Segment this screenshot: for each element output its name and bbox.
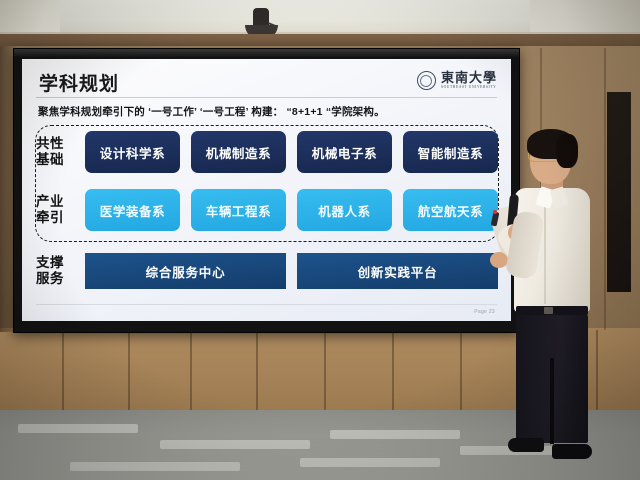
row-common-foundation: 共性 基础 设计科学系 机械制造系 机械电子系 智能制造系 (36, 127, 498, 177)
title-divider (36, 97, 497, 98)
slide-canvas: 学科规划 東南大學 SOUTHEAST UNIVERSITY 聚焦学科规划牵引下… (22, 59, 511, 321)
dept-box-mechanical-mfg[interactable]: 机械制造系 (191, 131, 286, 173)
slide-title: 学科规划 (39, 69, 119, 96)
presenter-far-hand (490, 252, 508, 268)
dept-box-aerospace[interactable]: 航空航天系 (403, 189, 498, 231)
carpet-pattern (300, 458, 440, 467)
dept-box-mechatronics[interactable]: 机械电子系 (297, 131, 392, 173)
dept-box-intelligent-mfg[interactable]: 智能制造系 (403, 131, 498, 173)
row-label-line2: 牵引 (36, 210, 85, 226)
department-grid: 共性 基础 设计科学系 机械制造系 机械电子系 智能制造系 (36, 127, 498, 235)
cabinet-seam (460, 330, 462, 412)
slide-subtitle: 聚焦学科规划牵引下的 ‘一号工作’ ‘一号工程’ 构建： “8+1+1 “学院架… (38, 104, 385, 119)
carpet-pattern (18, 424, 138, 433)
row-label-line1: 支撑 (36, 255, 85, 271)
display-screen: 学科规划 東南大學 SOUTHEAST UNIVERSITY 聚焦学科规划牵引下… (22, 59, 511, 321)
dept-box-design-science[interactable]: 设计科学系 (85, 131, 180, 173)
presenter-shoe-right (552, 444, 592, 459)
university-seal-icon (417, 71, 436, 90)
row-label-line1: 共性 (36, 136, 85, 152)
photo-scene: 学科规划 東南大學 SOUTHEAST UNIVERSITY 聚焦学科规划牵引下… (0, 0, 640, 480)
row-cells: 医学装备系 车辆工程系 机器人系 航空航天系 (85, 189, 498, 231)
cabinet-seam (190, 330, 192, 412)
presenter-hair-back (556, 134, 578, 168)
cabinet-seam (256, 330, 258, 412)
dept-box-vehicle-engineering[interactable]: 车辆工程系 (191, 189, 286, 231)
row-label-line1: 产业 (36, 194, 85, 210)
cabinet-seam (392, 330, 394, 412)
row-label-industry-driven: 产业 牵引 (36, 194, 85, 225)
presenter-shoe-left (508, 438, 544, 452)
footer-divider (36, 304, 497, 305)
university-logo-text: 東南大學 SOUTHEAST UNIVERSITY (441, 71, 497, 90)
remote-laser-led-icon (493, 210, 497, 214)
row-support-services: 支撑 服务 综合服务中心 创新实践平台 (36, 249, 498, 293)
row-cells: 设计科学系 机械制造系 机械电子系 智能制造系 (85, 131, 498, 173)
row-industry-driven: 产业 牵引 医学装备系 车辆工程系 机器人系 航空航天系 (36, 185, 498, 235)
cabinet-seam (128, 330, 130, 412)
support-box-service-center[interactable]: 综合服务中心 (85, 253, 286, 289)
row-spacer (36, 177, 498, 185)
row-label-common-foundation: 共性 基础 (36, 136, 85, 167)
ceiling-bevel-left (0, 0, 60, 34)
presentation-display[interactable]: 学科规划 東南大學 SOUTHEAST UNIVERSITY 聚焦学科规划牵引下… (13, 48, 520, 333)
presenter-shirt-placket (544, 204, 546, 304)
university-name-en: SOUTHEAST UNIVERSITY (441, 86, 497, 90)
carpet-pattern (330, 430, 460, 439)
display-bezel (14, 49, 519, 57)
university-logo: 東南大學 SOUTHEAST UNIVERSITY (417, 71, 497, 90)
cabinet-seam (62, 330, 64, 412)
dept-box-robotics[interactable]: 机器人系 (297, 189, 392, 231)
row-cells: 综合服务中心 创新实践平台 (85, 253, 498, 289)
dept-box-medical-equipment[interactable]: 医学装备系 (85, 189, 180, 231)
row-label-support-services: 支撑 服务 (36, 255, 85, 286)
presenter (486, 120, 636, 480)
support-box-innovation-platform[interactable]: 创新实践平台 (297, 253, 498, 289)
university-name-cn: 東南大學 (441, 71, 497, 84)
carpet-pattern (160, 440, 310, 449)
row-label-line2: 服务 (36, 271, 85, 287)
presenter-belt-buckle (544, 307, 553, 314)
carpet-pattern (70, 462, 240, 471)
row-label-line2: 基础 (36, 152, 85, 168)
presenter-leg-seam (550, 358, 554, 444)
cabinet-seam (324, 330, 326, 412)
